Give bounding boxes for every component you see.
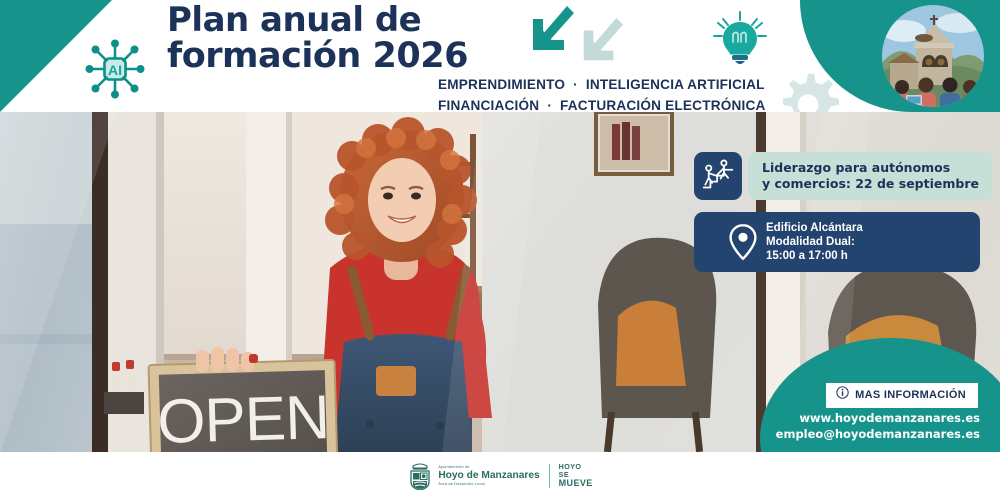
topic-emprendimiento: EMPRENDIMIENTO xyxy=(438,77,565,92)
venue-line1: Edificio Alcántara xyxy=(766,221,863,235)
ayuntamiento-text: Ayuntamiento de Hoyo de Manzanares Área … xyxy=(438,465,539,487)
arrow-down-left-dark-icon xyxy=(527,4,575,58)
header-band: AI Plan anual de formación 2026 EMPRENDI… xyxy=(0,0,1000,112)
ai-badge-text: AI xyxy=(108,62,122,78)
topic-inteligencia-artificial: INTELIGENCIA ARTIFICIAL xyxy=(586,77,765,92)
course-title-box: Liderazgo para autónomos y comercios: 22… xyxy=(748,152,993,200)
mueve-line-3: mueve xyxy=(559,479,593,489)
poster-subtitle: EMPRENDIMIENTO · INTELIGENCIA ARTIFICIAL… xyxy=(438,74,766,112)
subtitle-separator-2: · xyxy=(543,98,556,112)
title-line-1: Plan anual de xyxy=(167,2,487,38)
coat-of-arms-icon xyxy=(407,462,433,490)
course-title-line2: y comercios: 22 de septiembre xyxy=(762,176,979,192)
lightbulb-idea-icon xyxy=(710,10,770,72)
leadership-icon-box xyxy=(694,152,742,200)
topic-facturacion-electronica: FACTURACIÓN ELECTRÓNICA xyxy=(560,98,765,112)
ai-chip-icon: AI xyxy=(84,38,146,100)
contact-block: www.hoyodemanzanares.es empleo@hoyodeman… xyxy=(776,410,980,442)
ayto-main-label: Hoyo de Manzanares xyxy=(438,470,539,482)
gear-icon xyxy=(772,72,844,112)
venue-line2: Modalidad Dual: xyxy=(766,235,863,249)
ayuntamiento-logo: Ayuntamiento de Hoyo de Manzanares Área … xyxy=(407,462,592,490)
course-title-row: Liderazgo para autónomos y comercios: 22… xyxy=(694,152,993,200)
title-line-2: formación 2026 xyxy=(167,38,487,74)
footer-band: Ayuntamiento de Hoyo de Manzanares Área … xyxy=(0,452,1000,500)
leadership-steps-icon xyxy=(701,158,735,195)
hoyo-se-mueve-logo: Hoyo se mueve xyxy=(559,463,593,489)
course-title-line1: Liderazgo para autónomos xyxy=(762,160,979,176)
mas-informacion-label: MAS INFORMACIÓN xyxy=(855,389,966,401)
ayto-sub-label: Área de Desarrollo Local xyxy=(438,482,539,487)
venue-line3: 15:00 a 17:00 h xyxy=(766,249,863,263)
svg-text:OPEN: OPEN xyxy=(156,383,330,454)
poster-title: Plan anual de formación 2026 xyxy=(167,2,487,74)
arrow-down-left-light-icon xyxy=(578,16,624,68)
bell-tower-group-photo xyxy=(882,5,984,107)
footer-divider xyxy=(549,464,550,488)
info-circle-icon xyxy=(836,386,849,404)
subtitle-separator: · xyxy=(569,77,582,92)
course-venue-box: Edificio Alcántara Modalidad Dual: 15:00… xyxy=(694,212,980,272)
venue-lines: Edificio Alcántara Modalidad Dual: 15:00… xyxy=(766,221,863,263)
topic-financiacion: FINANCIACIÓN xyxy=(438,98,539,112)
email-link[interactable]: empleo@hoyodemanzanares.es xyxy=(776,426,980,442)
location-pin-icon xyxy=(694,223,766,261)
subtitle-line-2: FINANCIACIÓN · FACTURACIÓN ELECTRÓNICA xyxy=(438,95,766,112)
subtitle-line-1: EMPRENDIMIENTO · INTELIGENCIA ARTIFICIAL xyxy=(438,74,766,95)
website-link[interactable]: www.hoyodemanzanares.es xyxy=(799,410,980,426)
mas-informacion-button[interactable]: MAS INFORMACIÓN xyxy=(826,383,978,408)
poster-root: OPEN MAS INFORMACIÓN xyxy=(0,0,1000,500)
